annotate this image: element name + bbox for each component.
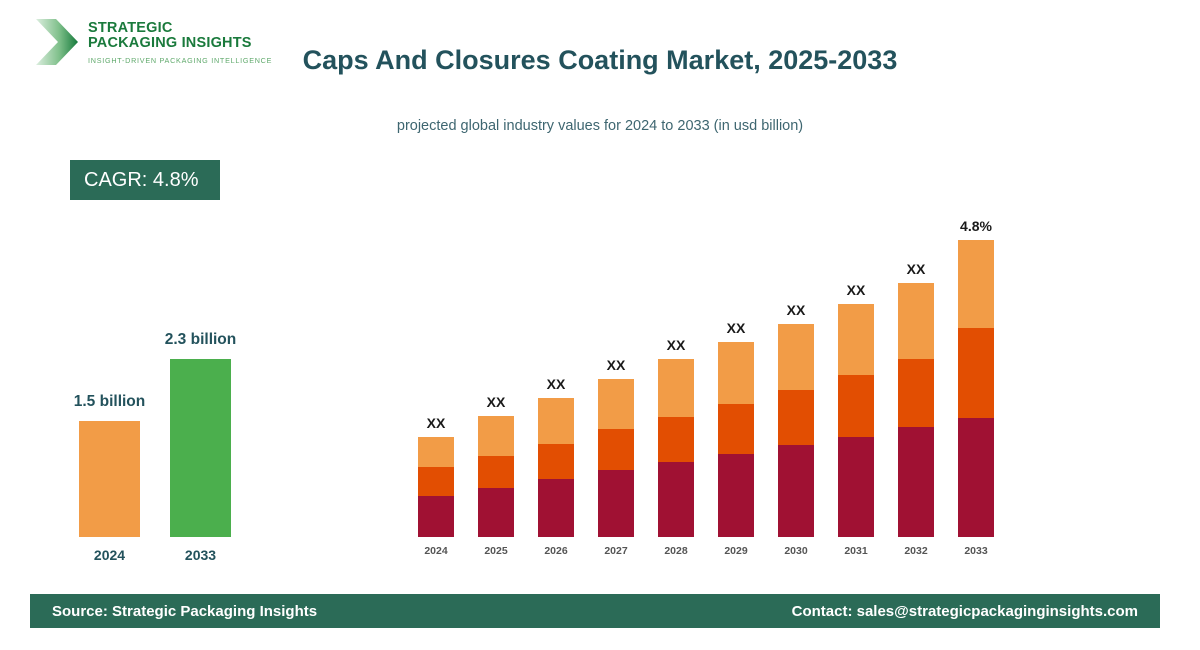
forecast-bar-2029: XX2029 <box>718 342 754 537</box>
forecast-bar-year: 2028 <box>664 545 687 557</box>
forecast-bar-label: XX <box>547 376 566 392</box>
forecast-bar-segment-segment-3 <box>898 283 934 359</box>
comparison-bar-chart: 1.5 billion20242.3 billion2033 <box>40 300 290 570</box>
comparison-bar-2033: 2.3 billion2033 <box>170 359 231 537</box>
footer-source: Source: Strategic Packaging Insights <box>52 603 317 620</box>
comparison-bar-year: 2033 <box>185 547 216 563</box>
forecast-bar-segment-segment-3 <box>778 324 814 390</box>
forecast-bar-segment-segment-2 <box>718 404 754 454</box>
forecast-bar-segment-segment-2 <box>478 456 514 488</box>
comparison-bar-year: 2024 <box>94 547 125 563</box>
forecast-bar-segment-segment-2 <box>898 359 934 427</box>
forecast-bar-2024: XX2024 <box>418 437 454 537</box>
forecast-bar-segment-segment-1 <box>718 454 754 537</box>
forecast-bar-segment-segment-2 <box>958 328 994 418</box>
comparison-bar-fill <box>170 359 231 537</box>
forecast-bar-segment-segment-3 <box>598 379 634 429</box>
forecast-bar-segment-segment-2 <box>838 375 874 437</box>
forecast-bar-2028: XX2028 <box>658 359 694 537</box>
forecast-bar-segment-segment-1 <box>658 462 694 537</box>
forecast-bar-year: 2031 <box>844 545 867 557</box>
forecast-bar-label: XX <box>607 357 626 373</box>
chevron-logo-icon <box>34 16 80 68</box>
forecast-bar-2033: 4.8%2033 <box>958 240 994 537</box>
forecast-bar-label: XX <box>847 282 866 298</box>
brand-logo: STRATEGIC PACKAGING INSIGHTS INSIGHT-DRI… <box>34 16 272 68</box>
forecast-bar-2031: XX2031 <box>838 304 874 537</box>
forecast-bar-2032: XX2032 <box>898 283 934 537</box>
forecast-bar-label: XX <box>907 261 926 277</box>
forecast-bar-year: 2029 <box>724 545 747 557</box>
forecast-bar-segment-segment-3 <box>478 416 514 456</box>
forecast-bar-year: 2030 <box>784 545 807 557</box>
logo-line-one: STRATEGIC <box>88 21 272 36</box>
forecast-bar-segment-segment-3 <box>538 398 574 444</box>
forecast-bar-year: 2024 <box>424 545 447 557</box>
logo-wordmark: STRATEGIC PACKAGING INSIGHTS INSIGHT-DRI… <box>88 19 272 65</box>
forecast-bar-segment-segment-1 <box>598 470 634 537</box>
cagr-badge-label: CAGR: 4.8% <box>84 169 198 192</box>
page-title: Caps And Closures Coating Market, 2025-2… <box>300 42 900 78</box>
forecast-bar-label: XX <box>787 302 806 318</box>
comparison-bar-fill <box>79 421 140 537</box>
forecast-bar-year: 2026 <box>544 545 567 557</box>
footer-contact: Contact: sales@strategicpackaginginsight… <box>792 603 1138 620</box>
forecast-bar-label: XX <box>427 415 446 431</box>
forecast-bar-year: 2032 <box>904 545 927 557</box>
infographic-page: STRATEGIC PACKAGING INSIGHTS INSIGHT-DRI… <box>0 0 1200 650</box>
forecast-bar-2027: XX2027 <box>598 379 634 537</box>
forecast-bar-segment-segment-1 <box>898 427 934 537</box>
forecast-bar-year: 2025 <box>484 545 507 557</box>
page-subtitle: projected global industry values for 202… <box>300 116 900 136</box>
forecast-bar-2030: XX2030 <box>778 324 814 537</box>
forecast-bar-segment-segment-1 <box>838 437 874 537</box>
forecast-bar-segment-segment-2 <box>418 467 454 496</box>
forecast-bar-year: 2027 <box>604 545 627 557</box>
forecast-bar-segment-segment-1 <box>538 479 574 537</box>
forecast-bar-segment-segment-3 <box>718 342 754 404</box>
forecast-bar-year: 2033 <box>964 545 987 557</box>
forecast-bar-segment-segment-1 <box>478 488 514 537</box>
forecast-bar-2025: XX2025 <box>478 416 514 537</box>
forecast-bar-label: 4.8% <box>960 218 992 234</box>
forecast-bar-segment-segment-3 <box>658 359 694 417</box>
comparison-bar-value: 1.5 billion <box>74 393 145 411</box>
forecast-bar-segment-segment-3 <box>958 240 994 328</box>
forecast-bar-segment-segment-3 <box>838 304 874 375</box>
forecast-bar-segment-segment-2 <box>538 444 574 479</box>
logo-line-two: PACKAGING INSIGHTS <box>88 36 272 51</box>
footer-bar: Source: Strategic Packaging Insights Con… <box>30 594 1160 628</box>
comparison-bar-2024: 1.5 billion2024 <box>79 421 140 537</box>
forecast-bar-segment-segment-1 <box>778 445 814 537</box>
forecast-bar-label: XX <box>667 337 686 353</box>
comparison-bar-value: 2.3 billion <box>165 331 236 349</box>
forecast-bar-segment-segment-2 <box>658 417 694 462</box>
forecast-bar-segment-segment-3 <box>418 437 454 467</box>
forecast-bar-segment-segment-1 <box>958 418 994 537</box>
forecast-bar-2026: XX2026 <box>538 398 574 537</box>
forecast-bar-label: XX <box>487 394 506 410</box>
forecast-bar-segment-segment-2 <box>598 429 634 470</box>
cagr-badge: CAGR: 4.8% <box>70 160 220 200</box>
forecast-stacked-bar-chart: XX2024XX2025XX2026XX2027XX2028XX2029XX20… <box>408 200 1008 560</box>
forecast-bar-segment-segment-2 <box>778 390 814 445</box>
logo-tagline: INSIGHT-DRIVEN PACKAGING INTELLIGENCE <box>88 56 272 65</box>
forecast-bar-label: XX <box>727 320 746 336</box>
forecast-bar-segment-segment-1 <box>418 496 454 537</box>
